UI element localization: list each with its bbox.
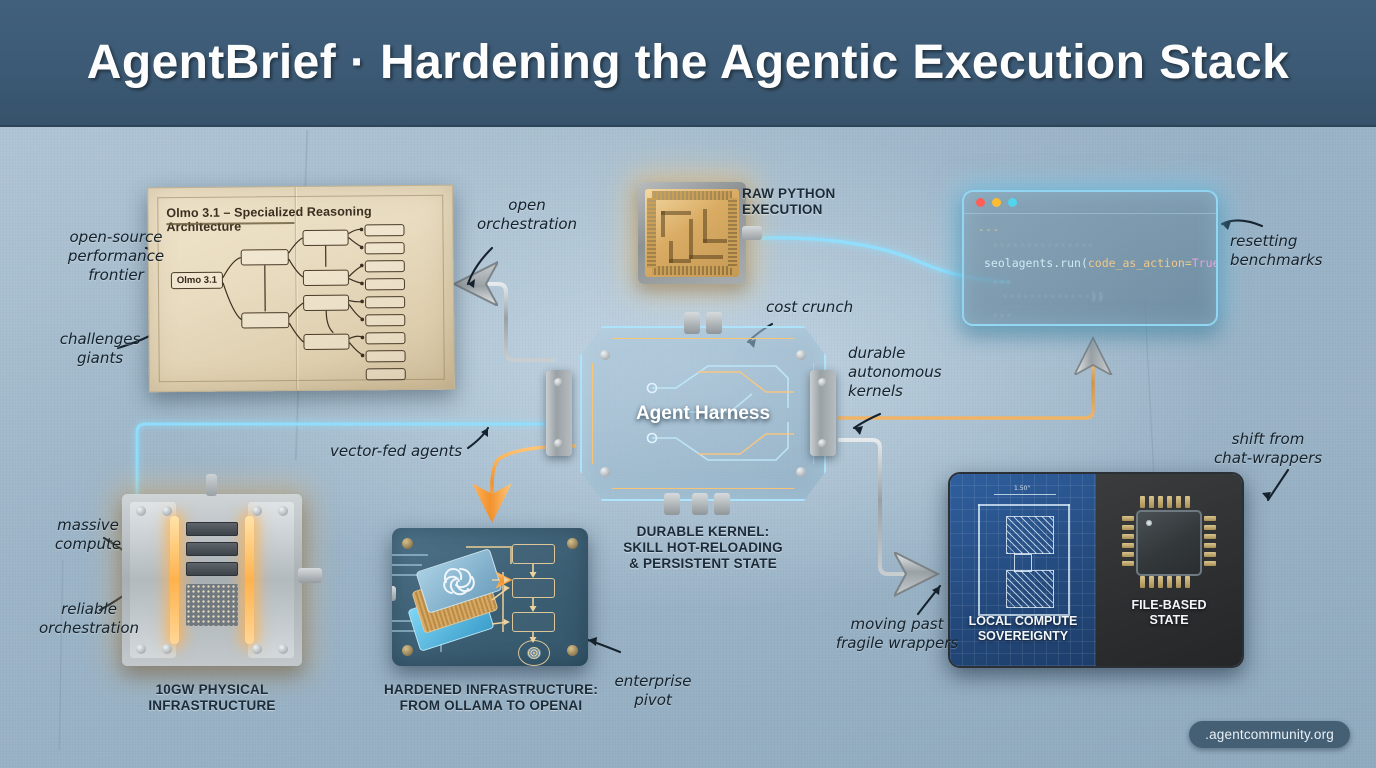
chip-pin xyxy=(1204,516,1216,521)
footer-site-badge[interactable]: .agentcommunity.org xyxy=(1189,721,1350,748)
chip-trace xyxy=(689,255,723,259)
blueprint-hatch xyxy=(1006,570,1054,608)
rack-bolt xyxy=(162,644,172,654)
rack-bolt xyxy=(278,506,288,516)
code-equals: = xyxy=(1185,256,1192,270)
chip-pin xyxy=(1122,516,1134,521)
annotation-open-source-performance-frontier: open-source performance frontier xyxy=(36,228,196,284)
agent-harness-label: Agent Harness xyxy=(580,326,826,501)
agent-harness-node[interactable]: Agent Harness xyxy=(580,326,826,501)
rack-glow-left xyxy=(170,516,179,644)
blueprint-dimension-line xyxy=(994,494,1056,495)
pcb-mount-hole xyxy=(402,538,413,549)
annotation-enterprise-pivot: enterprise pivot xyxy=(598,672,708,710)
blueprint-line xyxy=(978,504,1070,506)
pcb-flow-arrows xyxy=(392,528,588,666)
code-argument: code_as_action xyxy=(1088,256,1185,270)
chip-trace xyxy=(661,211,665,237)
code-method: .run( xyxy=(1053,256,1088,270)
annotation-durable-autonomous-kernels: durable autonomous kernels xyxy=(848,344,968,400)
chip-pin xyxy=(1204,561,1216,566)
file-state-panel[interactable]: FILE-BASED STATE xyxy=(1096,474,1242,666)
chip-pin xyxy=(1204,525,1216,530)
code-line-top: --- xyxy=(978,222,1206,238)
annotation-massive-compute: massive compute xyxy=(28,516,148,554)
blueprint-dimension-label: 1.50" xyxy=(1014,485,1030,492)
chip-trace xyxy=(689,219,693,259)
raw-python-caption: RAW PYTHON EXECUTION xyxy=(742,186,872,218)
annotation-resetting-benchmarks: resetting benchmarks xyxy=(1230,232,1370,270)
annotation-shift-from-chat-wrappers: shift from chat-wrappers xyxy=(1188,430,1348,468)
header-bar: AgentBrief · Hardening the Agentic Execu… xyxy=(0,0,1376,127)
pcb-mount-hole xyxy=(402,645,413,656)
pcb-plug xyxy=(392,586,396,601)
close-icon[interactable] xyxy=(976,198,985,207)
file-state-label: FILE-BASED STATE xyxy=(1096,598,1242,628)
paper-tree-links xyxy=(148,186,456,394)
compute-state-card[interactable]: 1.50" LOCAL COMPUTE SOVEREIGNTY xyxy=(948,472,1244,668)
rack-bolt xyxy=(162,506,172,516)
chip-pin xyxy=(1122,552,1134,557)
rack-cable xyxy=(206,474,217,496)
chip-pin xyxy=(1122,543,1134,548)
code-content: --- ··············· seolagents.run(code_… xyxy=(978,222,1206,326)
chip-pin xyxy=(1140,496,1145,508)
chip-orientation-dot xyxy=(1146,520,1152,526)
blueprint-center-square xyxy=(1014,554,1032,572)
blueprint-hatch xyxy=(1006,516,1054,554)
chip-pin xyxy=(1176,496,1181,508)
chip-pin xyxy=(1185,576,1190,588)
code-line-dots-1: ... xyxy=(978,272,1206,288)
chip-pin xyxy=(1167,576,1172,588)
pcb-mount-hole xyxy=(567,645,578,656)
chip-pin xyxy=(1149,496,1154,508)
code-line-blur-2: ·············)) xyxy=(978,289,1206,305)
physical-infrastructure-rack[interactable] xyxy=(122,494,302,666)
hardened-infrastructure-board[interactable] xyxy=(392,528,588,666)
harness-bracket-right xyxy=(810,370,836,456)
chip-pin xyxy=(1204,552,1216,557)
chip-pin xyxy=(1140,576,1145,588)
code-window-titlebar xyxy=(964,192,1216,214)
chip-pins-right xyxy=(728,198,737,268)
blueprint-line xyxy=(1068,504,1070,614)
chip-pin xyxy=(1149,576,1154,588)
chip-trace xyxy=(703,239,727,243)
hardened-infrastructure-caption: HARDENED INFRASTRUCTURE: FROM OLLAMA TO … xyxy=(378,682,604,714)
chip-pin-group-bottom xyxy=(1140,576,1190,588)
rack-slot xyxy=(186,562,238,576)
rack-bolt xyxy=(136,506,146,516)
rack-bolt xyxy=(278,644,288,654)
chip-die xyxy=(645,189,739,277)
chip-pin xyxy=(1204,543,1216,548)
chip-pins-left xyxy=(647,198,656,268)
code-window[interactable]: --- ··············· seolagents.run(code_… xyxy=(962,190,1218,326)
chip-pins-bottom xyxy=(652,266,732,275)
chip-pin xyxy=(1167,496,1172,508)
annotation-open-orchestration: open orchestration xyxy=(452,196,602,234)
chip-pin xyxy=(1122,534,1134,539)
rack-panel-right xyxy=(248,502,294,658)
page-title: AgentBrief · Hardening the Agentic Execu… xyxy=(87,35,1289,90)
rack-bolt xyxy=(252,644,262,654)
chip-pin xyxy=(1158,496,1163,508)
olmo-paper-card[interactable]: Olmo 3.1 – Specialized Reasoning Archite… xyxy=(147,185,455,393)
annotation-vector-fed-agents: vector-fed agents xyxy=(330,442,480,461)
pcb-mount-hole xyxy=(567,538,578,549)
raw-python-chip[interactable] xyxy=(638,182,746,284)
infrastructure-caption: 10GW PHYSICAL INFRASTRUCTURE xyxy=(112,682,312,714)
code-value: True xyxy=(1192,256,1218,270)
rack-plug xyxy=(298,568,322,583)
annotation-reliable-orchestration: reliable orchestration xyxy=(14,600,164,638)
rack-bolt xyxy=(252,506,262,516)
chip-connector xyxy=(742,226,762,240)
code-line-blur-1: ··············· xyxy=(978,238,1206,254)
code-line-dots-2: ... xyxy=(978,305,1206,321)
file-state-chip xyxy=(1136,510,1202,576)
maximize-icon[interactable] xyxy=(1008,198,1017,207)
chip-pin xyxy=(1122,561,1134,566)
chip-pin-group-left xyxy=(1122,516,1134,566)
chip-pin-group-top xyxy=(1140,496,1190,508)
chip-pin xyxy=(1185,496,1190,508)
annotation-cost-crunch: cost crunch xyxy=(766,298,886,317)
rack-slot xyxy=(186,522,238,536)
annotation-challenges-giants: challenges giants xyxy=(30,330,170,368)
chip-pin-group-right xyxy=(1204,516,1216,566)
chip-pins-top xyxy=(652,191,732,200)
rack-bolt xyxy=(136,644,146,654)
chip-pin xyxy=(1176,576,1181,588)
code-module: seolagents xyxy=(984,256,1053,270)
chip-pin xyxy=(1122,525,1134,530)
annotation-moving-past-fragile-wrappers: moving past fragile wrappers xyxy=(822,615,972,653)
chip-trace xyxy=(669,259,691,263)
rack-vent xyxy=(186,584,238,626)
diagram-canvas: AgentBrief · Hardening the Agentic Execu… xyxy=(0,0,1376,768)
chip-pin xyxy=(1204,534,1216,539)
harness-bracket-left xyxy=(546,370,572,456)
code-line-bottom: --- xyxy=(978,321,1206,326)
code-line-main: seolagents.run(code_as_action=True) xyxy=(978,255,1206,273)
agent-harness-caption: DURABLE KERNEL: SKILL HOT-RELOADING & PE… xyxy=(580,524,826,572)
chip-trace xyxy=(661,211,691,215)
chip-trace xyxy=(703,209,707,243)
minimize-icon[interactable] xyxy=(992,198,1001,207)
rack-glow-right xyxy=(245,516,254,644)
rack-slot xyxy=(186,542,238,556)
chip-pin xyxy=(1158,576,1163,588)
blueprint-line xyxy=(978,504,980,614)
